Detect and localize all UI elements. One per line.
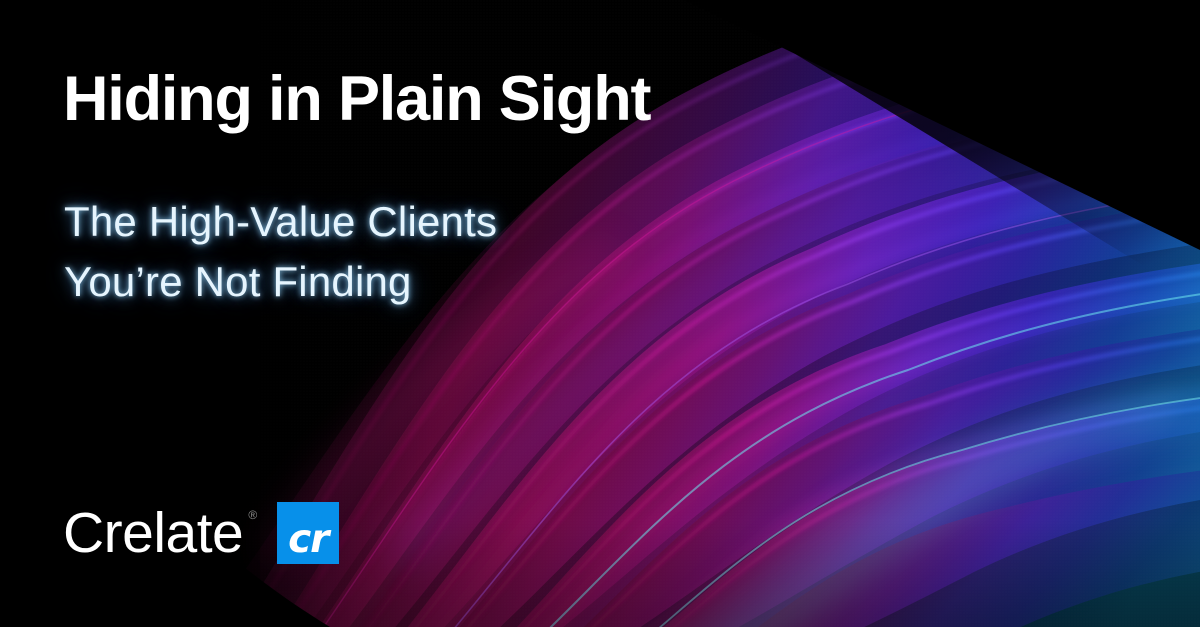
subtitle: The High-Value Clients You’re Not Findin… — [64, 192, 497, 311]
promo-banner: Hiding in Plain Sight The High-Value Cli… — [0, 0, 1200, 627]
subtitle-line-2: You’re Not Finding — [64, 252, 497, 312]
logo-wordmark: Crelate — [63, 505, 243, 562]
subtitle-line-1: The High-Value Clients — [64, 192, 497, 252]
brand-logo-lockup[interactable]: Crelate ® cr — [63, 500, 339, 566]
logo-mark-tile: cr — [277, 502, 339, 564]
logo-mark-text: cr — [288, 520, 328, 564]
logo-wordmark-wrap: Crelate ® — [63, 505, 259, 562]
page-title: Hiding in Plain Sight — [63, 66, 650, 132]
registered-trademark-icon: ® — [248, 509, 257, 521]
